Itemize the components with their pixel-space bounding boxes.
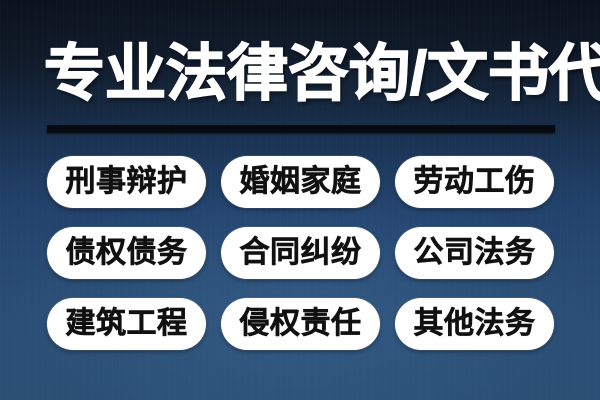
service-pill-marriage-family[interactable]: 婚姻家庭: [221, 156, 380, 208]
service-row: 债权债务 合同纠纷 公司法务: [47, 227, 555, 279]
page-title: 专业法律咨询/文书代写: [44, 30, 560, 116]
service-pill-grid: 刑事辩护 婚姻家庭 劳动工伤 债权债务 合同纠纷 公司法务 建筑工程 侵权责任 …: [47, 156, 555, 350]
banner-content: 专业法律咨询/文书代写 刑事辩护 婚姻家庭 劳动工伤 债权债务 合同纠纷 公司法…: [0, 0, 600, 400]
service-row: 刑事辩护 婚姻家庭 劳动工伤: [47, 156, 555, 208]
service-pill-construction-engineering[interactable]: 建筑工程: [47, 298, 206, 350]
service-pill-criminal-defense[interactable]: 刑事辩护: [47, 156, 206, 208]
title-divider: [47, 125, 555, 133]
service-pill-debt-claims[interactable]: 债权债务: [47, 227, 206, 279]
service-pill-corporate-legal[interactable]: 公司法务: [395, 227, 554, 279]
service-pill-other-legal[interactable]: 其他法务: [395, 298, 554, 350]
promo-banner: 专业法律咨询/文书代写 刑事辩护 婚姻家庭 劳动工伤 债权债务 合同纠纷 公司法…: [0, 0, 600, 400]
service-row: 建筑工程 侵权责任 其他法务: [47, 298, 555, 350]
service-pill-labor-injury[interactable]: 劳动工伤: [395, 156, 554, 208]
service-pill-tort-liability[interactable]: 侵权责任: [221, 298, 380, 350]
service-pill-contract-dispute[interactable]: 合同纠纷: [221, 227, 380, 279]
